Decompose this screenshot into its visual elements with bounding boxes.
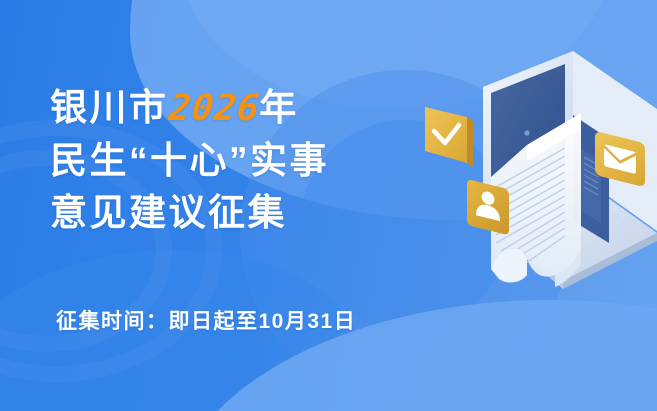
headline-block: 银川市2026年 民生“十心”实事 意见建议征集 bbox=[50, 82, 329, 239]
headline-line-1: 银川市2026年 bbox=[50, 82, 329, 135]
headline-year-suffix: 年 bbox=[259, 87, 299, 128]
headline-line-2: 民生“十心”实事 bbox=[50, 135, 329, 187]
headline-line-3: 意见建议征集 bbox=[50, 187, 329, 239]
collection-period-text: 征集时间：即日起至10月31日 bbox=[56, 305, 356, 335]
laptop-illustration bbox=[395, 45, 657, 295]
headline-city-year-prefix: 银川市 bbox=[50, 87, 169, 128]
headline-year: 2026 bbox=[166, 83, 262, 135]
check-card bbox=[425, 107, 473, 167]
banner-poster: 银川市2026年 民生“十心”实事 意见建议征集 征集时间：即日起至10月31日 bbox=[0, 0, 657, 411]
